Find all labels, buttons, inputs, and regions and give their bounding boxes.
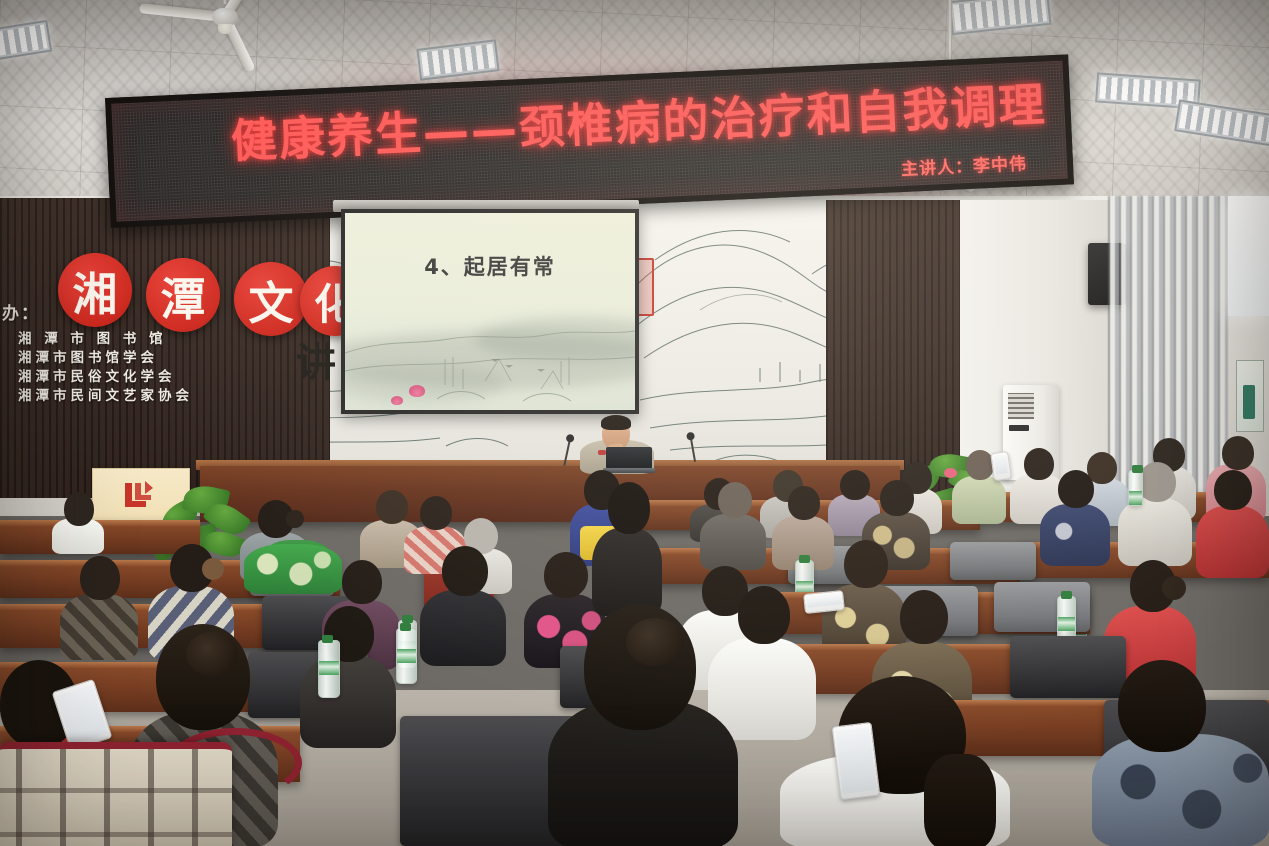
audience-person [60,556,138,656]
audience-person [592,482,662,612]
audience-person [300,606,396,742]
ac-grille [1008,393,1034,419]
audience-person [52,492,104,552]
ceiling-fan [150,0,300,42]
banner-sub-char: 讲 [296,330,336,388]
hair-bun [626,618,684,666]
wall-poster [1236,360,1264,432]
organizer-item: 湘潭市民俗文化学会 [2,368,193,387]
audience-person [1196,470,1269,574]
slide-lotus [409,385,425,397]
organizer-item: 湘 潭 市 图 书 馆 [2,330,193,349]
organizer-prefix: 办： [2,305,40,324]
audience-phone[interactable] [990,451,1012,481]
audience-phone[interactable] [803,590,845,614]
organizer-item: 湘潭市民间文艺家协会 [2,387,193,406]
window [1228,196,1269,316]
water-bottle[interactable] [396,628,417,684]
hair-bun [186,632,238,676]
banner-circle-char: 潭 [146,258,220,332]
slide-landscape-art [345,213,635,410]
water-bottle[interactable] [1128,470,1143,506]
slide-title: 4、起居有常 [345,251,635,281]
ac-display [1009,425,1029,431]
audience-person [780,676,1010,846]
audience-person [420,546,506,662]
organizer-item: 湘潭市图书馆学会 [2,349,193,368]
plaid-handbag [0,742,232,846]
audience-person [1092,660,1269,846]
lecture-hall-photo: 湘 潭 文 化 讲 办： 湘 潭 市 图 书 馆 湘潭市图书馆学会 湘潭市民俗文… [0,0,1269,846]
organizer-list: 办： 湘 潭 市 图 书 馆 湘潭市图书馆学会 湘潭市民俗文化学会 湘潭市民间文… [2,330,193,406]
water-bottle[interactable] [318,640,340,698]
banner-circle-char: 湘 [58,253,132,327]
banner-circle-char: 文 [234,262,308,336]
projection-screen: 4、起居有常 [341,209,639,414]
audience-person [548,604,738,846]
slide-lotus [391,396,403,405]
chair-back [950,542,1036,580]
audience-person [1040,470,1110,562]
audience-person [700,482,766,566]
